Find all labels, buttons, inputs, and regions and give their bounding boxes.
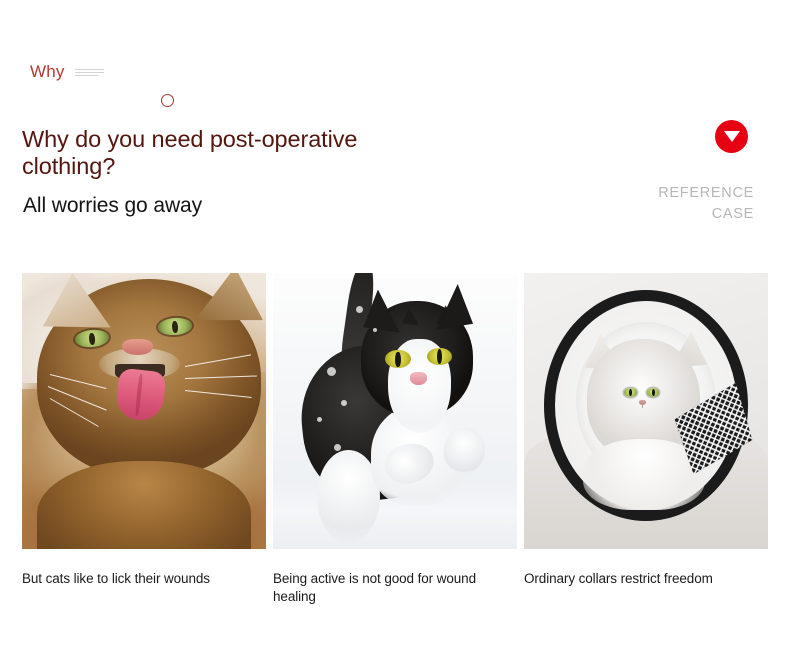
triangle-glyph (724, 131, 740, 142)
card-item: But cats like to lick their wounds (22, 273, 266, 606)
page-title: Why do you need post-operative clothing? (22, 126, 452, 181)
reference-case-line-1: REFERENCE (574, 183, 754, 204)
card-row: But cats like to lick their wounds (22, 273, 768, 606)
cat-e-collar-photo (524, 273, 768, 549)
cat-running-snow-photo (273, 273, 517, 549)
reference-case-label: REFERENCE CASE (574, 183, 754, 225)
eyebrow-label: Why (30, 63, 65, 80)
page-subtitle: All worries go away (23, 193, 202, 218)
section-eyebrow: Why (30, 58, 104, 84)
reference-case-line-2: CASE (574, 204, 754, 225)
cat-licking-photo (22, 273, 266, 549)
triangle-down-icon (715, 120, 748, 153)
card-caption: Ordinary collars restrict freedom (524, 570, 768, 588)
eyebrow-rule-lines-icon (75, 66, 104, 76)
card-item: Being active is not good for wound heali… (273, 273, 517, 606)
ring-marker-icon (161, 94, 174, 107)
card-caption: But cats like to lick their wounds (22, 570, 266, 588)
page-root: Why Why do you need post-operative cloth… (0, 0, 790, 660)
card-item: Ordinary collars restrict freedom (524, 273, 768, 606)
card-caption: Being active is not good for wound heali… (273, 570, 517, 606)
